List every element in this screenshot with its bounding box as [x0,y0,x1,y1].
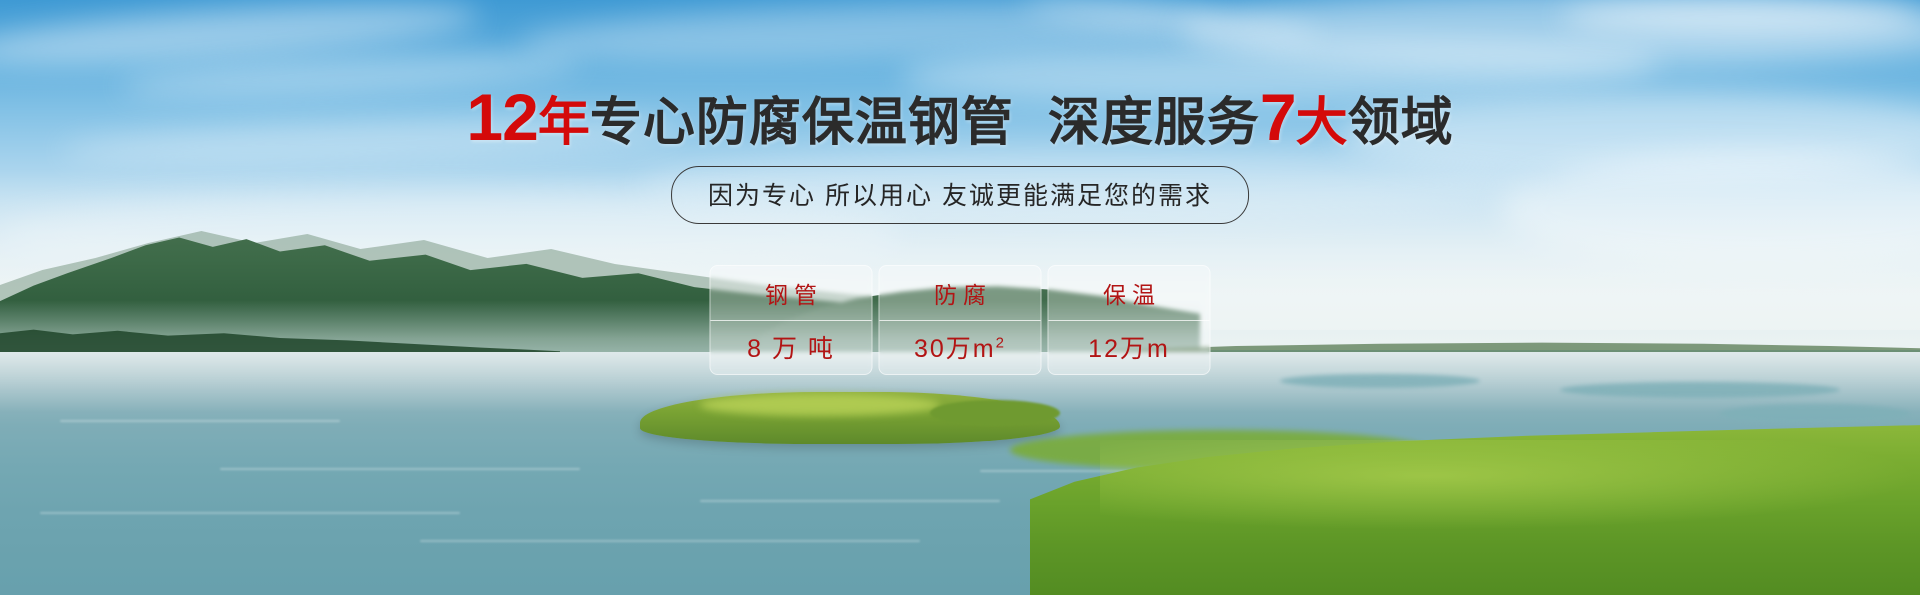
stat-card-insulation[interactable]: 保温 12万m [1048,265,1211,375]
headline-fields-number: 7 [1260,80,1296,154]
grass-highlight [1100,440,1920,530]
headline-fields-tail: 领域 [1348,94,1454,152]
stat-card-value-text: 30万m [914,335,996,363]
headline-years-number: 12 [466,80,537,154]
stat-card-label: 保温 [1097,276,1161,314]
water-patch [1280,374,1480,388]
stat-card-value-text: 8 万 吨 [747,335,835,363]
stat-card-value: 8 万 吨 [747,329,835,365]
headline-years-unit: 年 [538,94,590,152]
water-ripple [700,500,1000,502]
stat-card-value: 30万m2 [914,329,1006,365]
banner-headline: 12年专心防腐保温钢管深度服务7大领域 [0,84,1920,150]
water-ripple [40,512,460,514]
headline-middle-text: 专心防腐保温钢管 [590,94,1014,152]
stat-card-steel-pipe[interactable]: 钢管 8 万 吨 [710,265,873,375]
stat-card-label: 防腐 [928,276,992,314]
water-patch [1560,382,1840,398]
grass-island-highlight [700,394,940,416]
stat-card-value-text: 12万m [1088,335,1170,363]
hero-banner: 12年专心防腐保温钢管深度服务7大领域 因为专心 所以用心 友诚更能满足您的需求… [0,0,1920,595]
slogan-pill: 因为专心 所以用心 友诚更能满足您的需求 [671,166,1249,224]
headline-fields-unit: 大 [1296,94,1348,152]
headline-service-text: 深度服务 [1048,94,1260,152]
water-ripple [420,540,920,542]
cloud-shape [1560,0,1920,34]
stat-card-divider [711,320,872,321]
water-ripple [220,468,580,470]
stat-card-value: 12万m [1088,329,1170,365]
stat-card-divider [880,320,1041,321]
water-ripple [60,420,340,422]
stat-card-value-sup: 2 [996,334,1006,351]
water-patch [1720,404,1910,424]
stat-card-anticorrosion[interactable]: 防腐 30万m2 [879,265,1042,375]
grass-island-small [930,400,1060,426]
stat-card-divider [1049,320,1210,321]
stat-card-group: 钢管 8 万 吨 防腐 30万m2 保温 12万m [710,265,1211,375]
stat-card-label: 钢管 [759,276,823,314]
